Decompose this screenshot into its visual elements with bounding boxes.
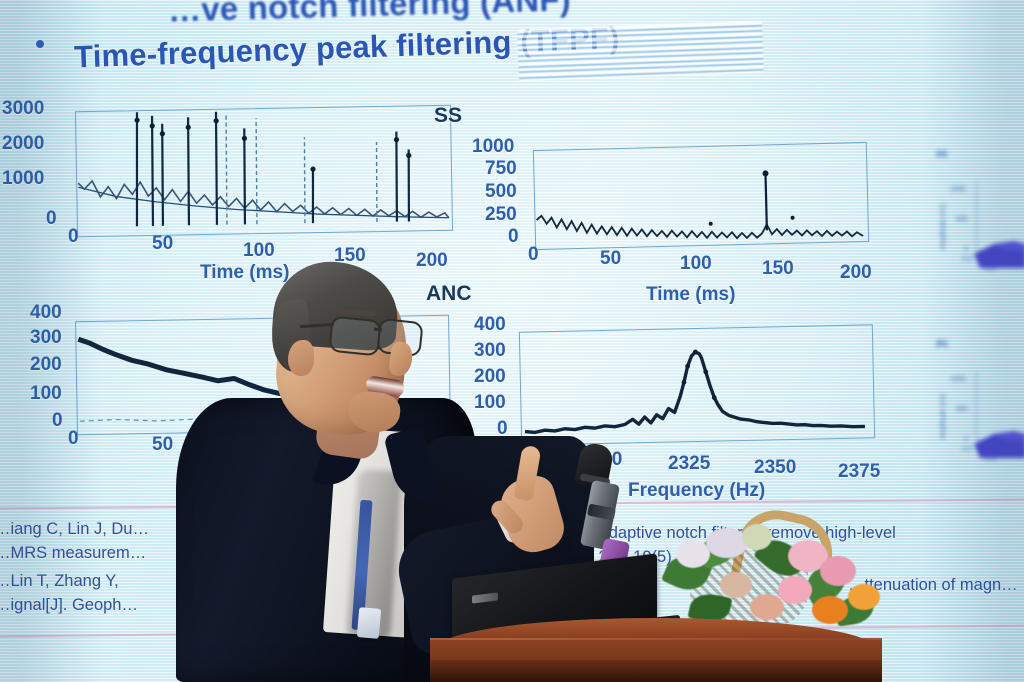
podium-shading xyxy=(430,660,882,682)
presentation-photo: …ve notch filtering (ANF) Time-frequency… xyxy=(0,0,1024,682)
flower-bloom xyxy=(820,556,856,586)
speaker-badge xyxy=(357,607,382,639)
flower-bloom xyxy=(812,596,848,624)
flower-bloom xyxy=(720,572,752,598)
eyeglasses-left-lens xyxy=(328,315,381,356)
flower-bloom xyxy=(742,524,772,550)
flower-bloom xyxy=(750,594,784,620)
speaker-ear xyxy=(288,340,314,376)
flower-bloom xyxy=(848,584,880,610)
flower-bloom xyxy=(676,540,710,568)
flower-bloom xyxy=(778,576,812,604)
